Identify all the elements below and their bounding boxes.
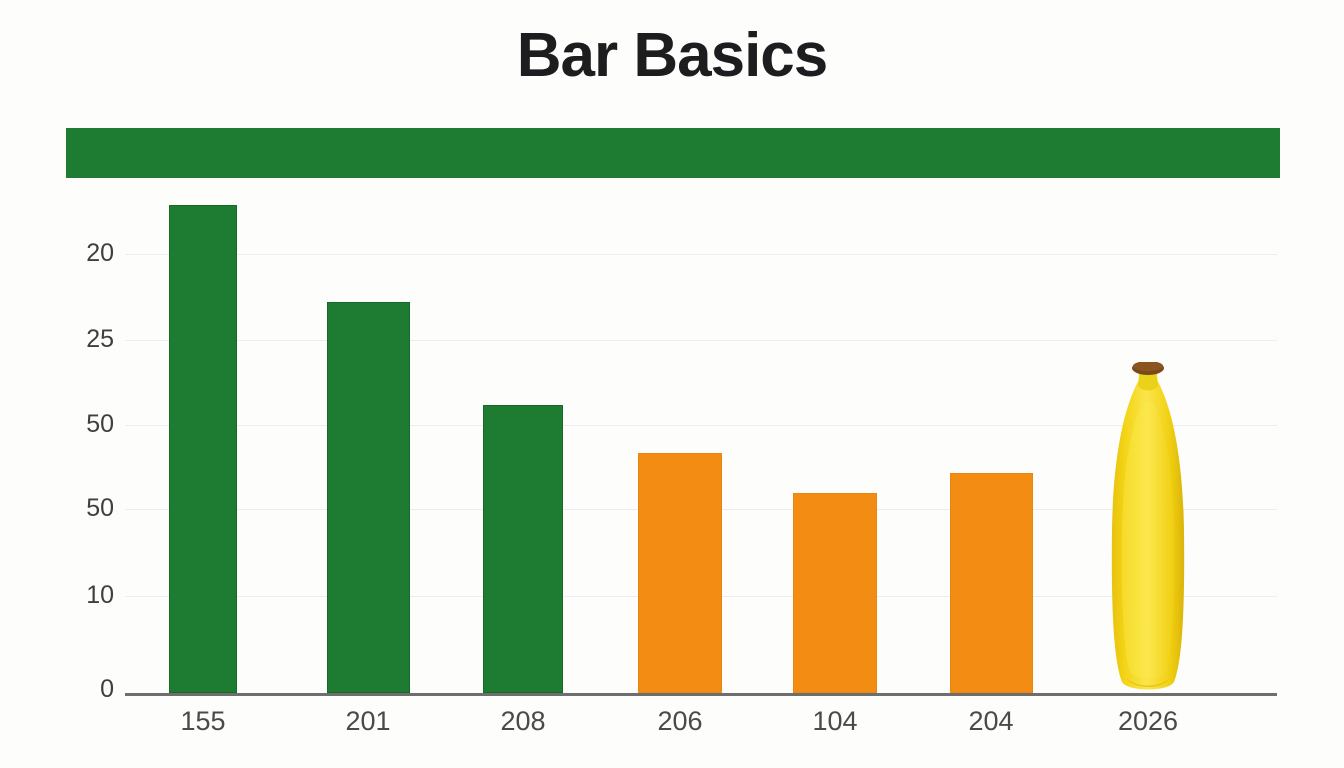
y-axis-tick-label: 50 bbox=[34, 410, 114, 439]
y-axis-tick-label: 0 bbox=[34, 675, 114, 704]
banana-icon[interactable] bbox=[1110, 362, 1186, 694]
y-axis-tick-label: 20 bbox=[34, 239, 114, 268]
gridline bbox=[125, 425, 1277, 426]
x-axis-line bbox=[125, 693, 1277, 696]
x-axis-tick-label: 155 bbox=[133, 706, 273, 737]
y-axis-tick-label: 50 bbox=[34, 494, 114, 523]
bar-204[interactable] bbox=[950, 473, 1033, 693]
gridline bbox=[125, 340, 1277, 341]
y-axis-tick-label: 10 bbox=[34, 581, 114, 610]
bar-206[interactable] bbox=[638, 453, 722, 693]
x-axis-tick-label: 2026 bbox=[1078, 706, 1218, 737]
bar-201[interactable] bbox=[327, 302, 410, 693]
x-axis-tick-label: 104 bbox=[765, 706, 905, 737]
gridline bbox=[125, 254, 1277, 255]
bar-104[interactable] bbox=[793, 493, 877, 693]
x-axis-tick-label: 206 bbox=[610, 706, 750, 737]
bar-155[interactable] bbox=[169, 205, 237, 693]
y-axis-tick-label: 25 bbox=[34, 325, 114, 354]
x-axis-tick-label: 201 bbox=[298, 706, 438, 737]
plot-area: 20 25 50 50 10 0 bbox=[0, 0, 1344, 768]
x-axis-tick-label: 208 bbox=[453, 706, 593, 737]
bar-208[interactable] bbox=[483, 405, 563, 693]
chart-canvas: Bar Basics 20 25 50 50 10 0 bbox=[0, 0, 1344, 768]
x-axis-tick-label: 204 bbox=[921, 706, 1061, 737]
